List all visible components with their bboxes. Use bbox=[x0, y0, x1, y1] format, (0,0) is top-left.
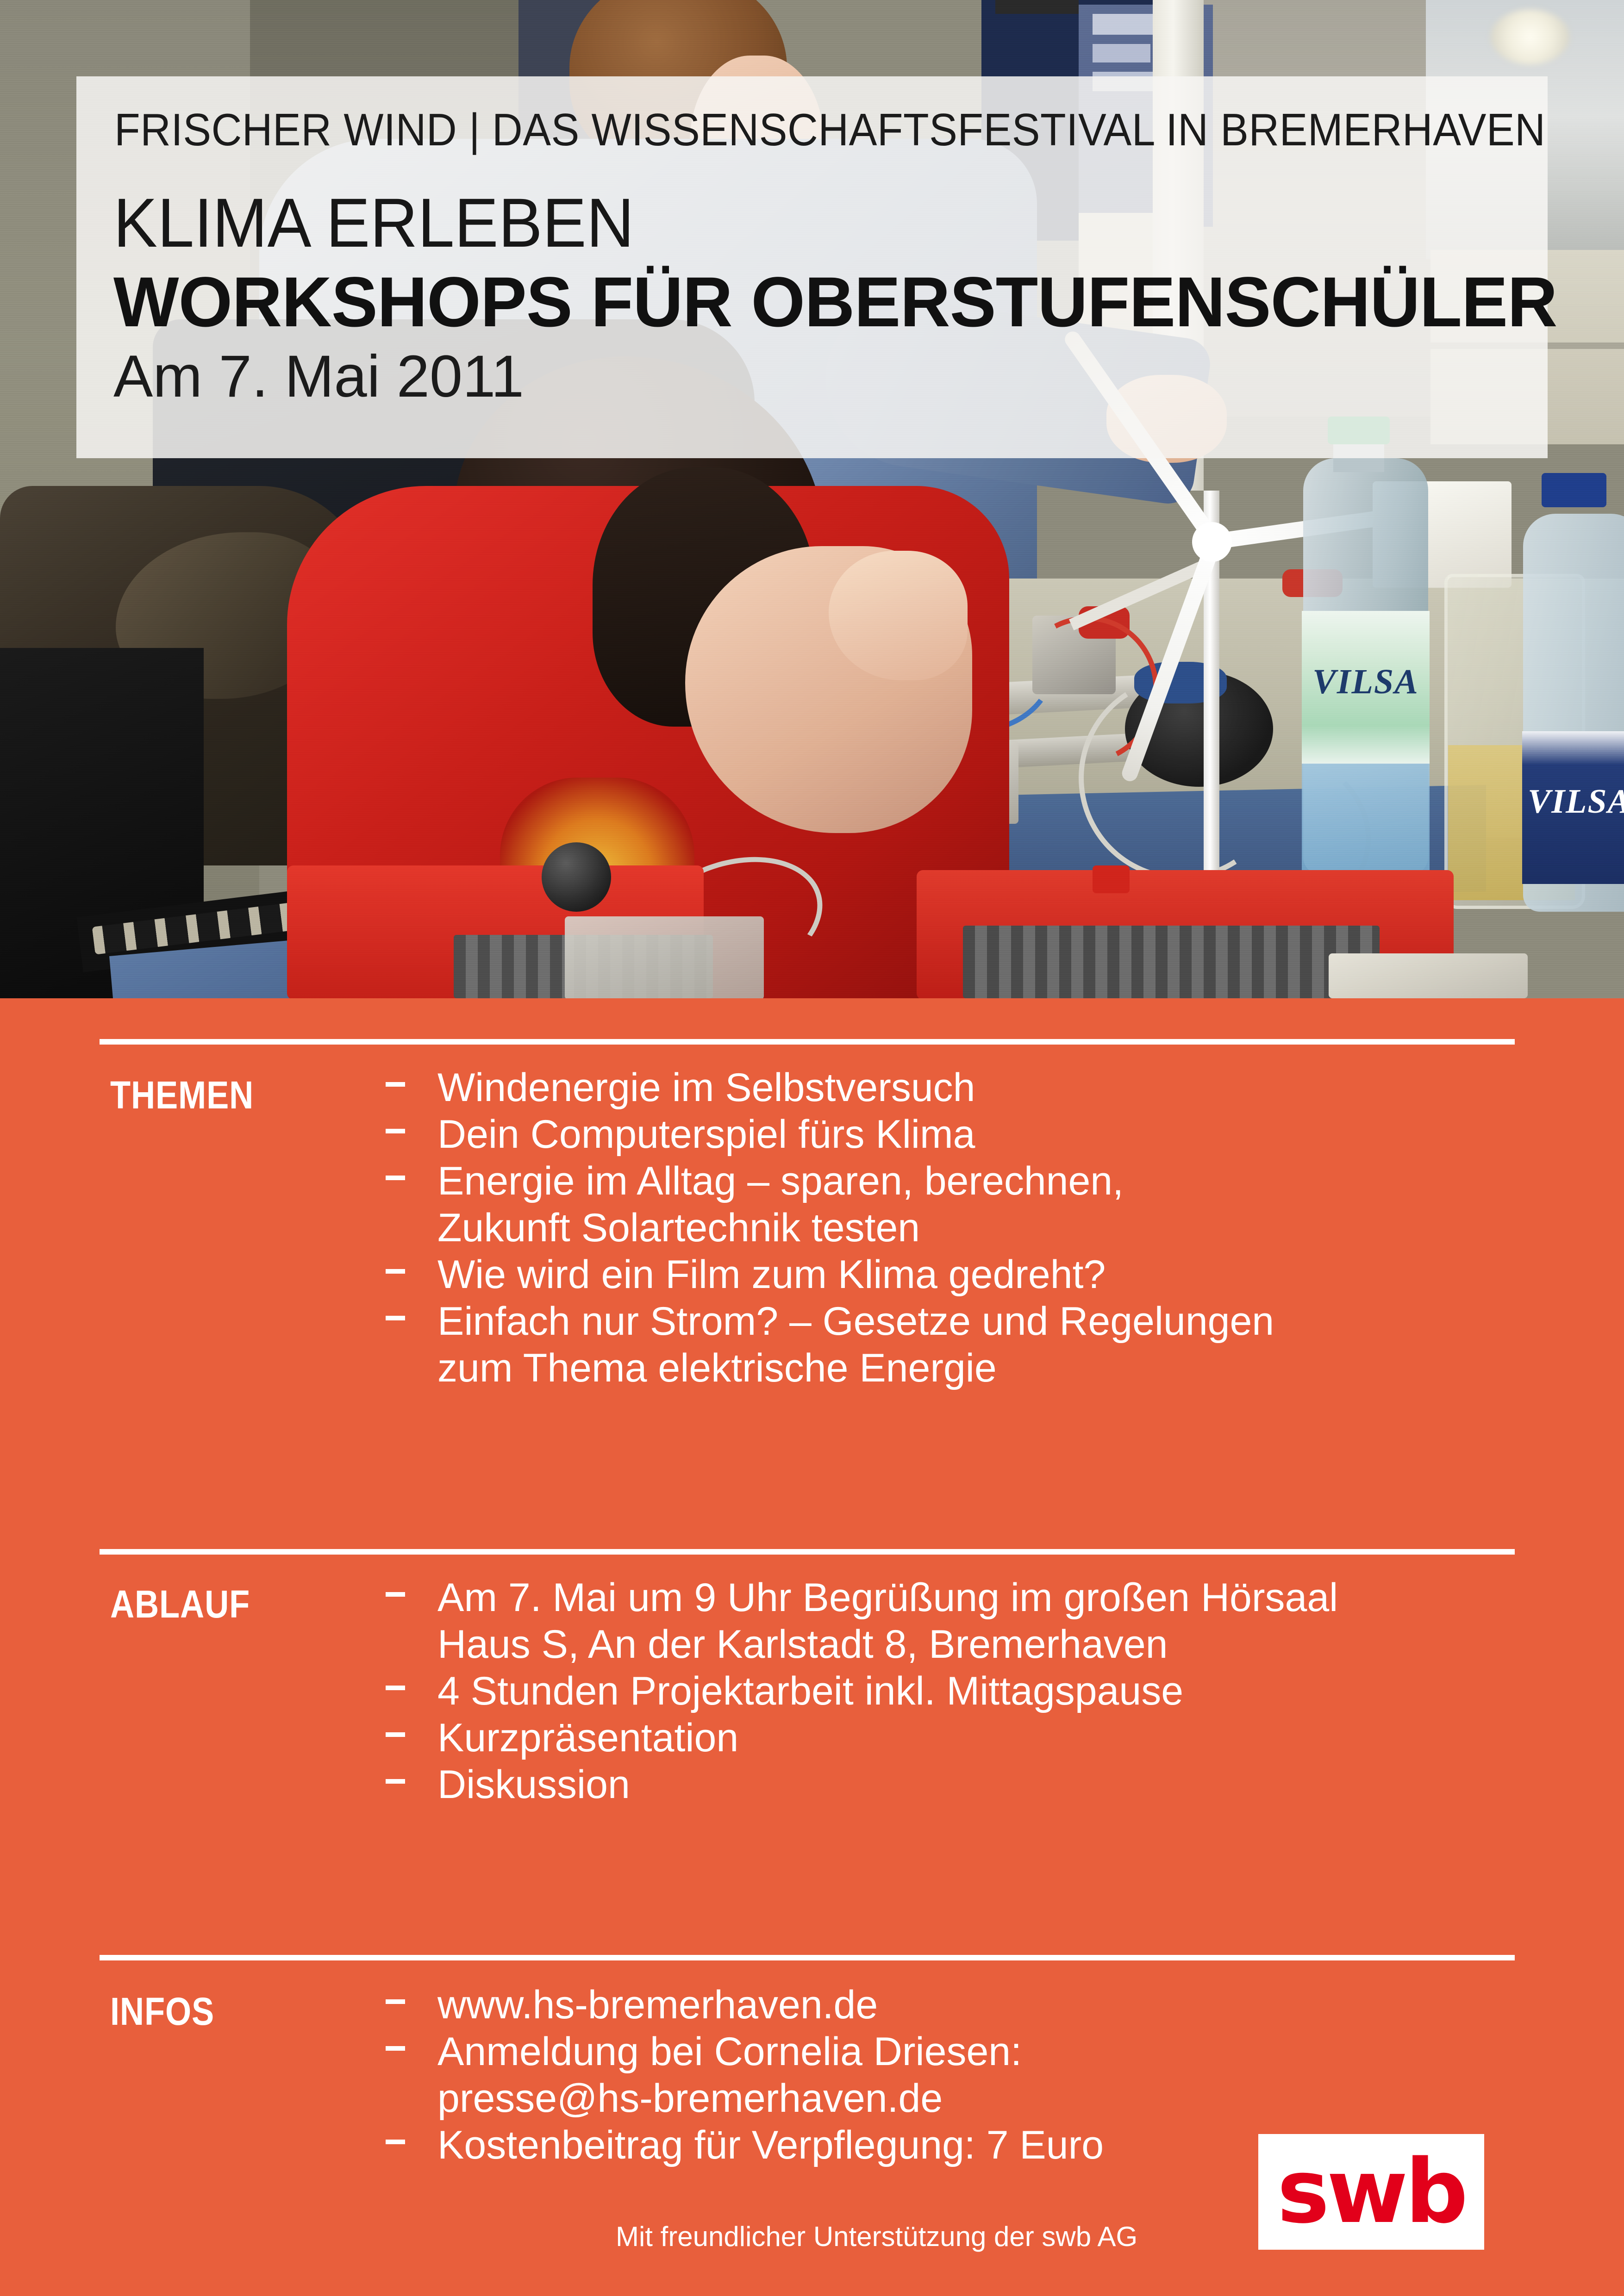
website-link[interactable]: www.hs-bremerhaven.de bbox=[437, 1982, 1543, 2028]
list-item: Anmeldung bei Cornelia Driesen: presse@h… bbox=[386, 2028, 1543, 2122]
divider-infos bbox=[100, 1955, 1515, 1960]
list-item: Einfach nur Strom? – Gesetze und Regelun… bbox=[386, 1298, 1543, 1392]
list-item: Diskussion bbox=[386, 1761, 1543, 1808]
list-item: www.hs-bremerhaven.de bbox=[386, 1982, 1543, 2028]
event-date: Am 7. Mai 2011 bbox=[113, 342, 524, 411]
sponsor-note: Mit freundlicher Unterstützung der swb A… bbox=[616, 2221, 1137, 2252]
bullet-dash-icon bbox=[386, 2046, 405, 2051]
bullet-dash-icon bbox=[386, 1082, 405, 1087]
wind-turbine-hub bbox=[1192, 522, 1232, 562]
toolbox-tray-right bbox=[1329, 953, 1528, 998]
list-item-line: Kurzpräsentation bbox=[437, 1715, 1543, 1761]
bottle-brand-label-2: VILSA bbox=[1528, 782, 1624, 822]
section-label-themen: THEMEN bbox=[110, 1073, 254, 1118]
list-item-line: Einfach nur Strom? – Gesetze und Regelun… bbox=[437, 1298, 1543, 1345]
booth-header-bar bbox=[995, 0, 1079, 14]
page-title-line-1: KLIMA ERLEBEN bbox=[113, 183, 634, 263]
bullet-dash-icon bbox=[386, 1176, 405, 1180]
black-knob bbox=[542, 842, 611, 912]
list-item: Energie im Alltag – sparen, berechnen, Z… bbox=[386, 1158, 1543, 1251]
bullet-dash-icon bbox=[386, 1592, 405, 1597]
list-item-line: Zukunft Solartechnik testen bbox=[437, 1205, 1543, 1251]
list-item: Wie wird ein Film zum Klima gedreht? bbox=[386, 1251, 1543, 1298]
booth-sign-line-2 bbox=[1093, 44, 1150, 62]
section-items-themen: Windenergie im Selbstversuch Dein Comput… bbox=[386, 1064, 1543, 1392]
bullet-dash-icon bbox=[386, 1686, 405, 1690]
festival-tagline: FRISCHER WIND | DAS WISSENSCHAFTSFESTIVA… bbox=[114, 104, 1545, 156]
list-item-line: Dein Computerspiel fürs Klima bbox=[437, 1111, 1543, 1158]
bottle-brand-label-1: VILSA bbox=[1310, 662, 1421, 702]
list-item-line: Am 7. Mai um 9 Uhr Begrüßung im großen H… bbox=[437, 1574, 1543, 1621]
list-item: Dein Computerspiel fürs Klima bbox=[386, 1111, 1543, 1158]
list-item: Windenergie im Selbstversuch bbox=[386, 1064, 1543, 1111]
water-bottle-green-water bbox=[1302, 759, 1430, 870]
list-item-line: Haus S, An der Karlstadt 8, Bremerhaven bbox=[437, 1621, 1543, 1668]
section-label-ablauf: ABLAUF bbox=[110, 1582, 250, 1627]
bullet-dash-icon bbox=[386, 1732, 405, 1737]
list-item-line: Diskussion bbox=[437, 1761, 1543, 1808]
list-item-line: Anmeldung bei Cornelia Driesen: bbox=[437, 2028, 1543, 2075]
bullet-dash-icon bbox=[386, 1129, 405, 1133]
poster: VILSA VILSA FRISCHER WIND | DAS WISSENSC… bbox=[0, 0, 1624, 2296]
email-link[interactable]: presse@hs-bremerhaven.de bbox=[437, 2075, 1543, 2122]
list-item-line: Windenergie im Selbstversuch bbox=[437, 1064, 1543, 1111]
bullet-dash-icon bbox=[386, 2140, 405, 2144]
list-item: 4 Stunden Projektarbeit inkl. Mittagspau… bbox=[386, 1668, 1543, 1715]
red-connector bbox=[1093, 865, 1130, 893]
list-item: Kurzpräsentation bbox=[386, 1715, 1543, 1761]
divider-ablauf bbox=[100, 1549, 1515, 1555]
water-bottle-blue-cap bbox=[1542, 473, 1606, 507]
page-title-line-2: WORKSHOPS FÜR OBERSTUFENSCHÜLER bbox=[113, 261, 1557, 343]
bullet-dash-icon bbox=[386, 1779, 405, 1784]
bullet-dash-icon bbox=[386, 1269, 405, 1274]
swb-logo-text: swb bbox=[1258, 2134, 1484, 2250]
list-item-line: Wie wird ein Film zum Klima gedreht? bbox=[437, 1251, 1543, 1298]
section-items-ablauf: Am 7. Mai um 9 Uhr Begrüßung im großen H… bbox=[386, 1574, 1543, 1808]
list-item-line: 4 Stunden Projektarbeit inkl. Mittagspau… bbox=[437, 1668, 1543, 1715]
section-label-infos: INFOS bbox=[110, 1989, 214, 2034]
list-item-line: zum Thema elektrische Energie bbox=[437, 1345, 1543, 1392]
bullet-dash-icon bbox=[386, 1999, 405, 2004]
toolbox-foam-right bbox=[963, 926, 1380, 998]
bullet-dash-icon bbox=[386, 1316, 405, 1320]
ceiling-lamp bbox=[1491, 9, 1569, 65]
swb-logo: swb bbox=[1258, 2134, 1484, 2250]
list-item: Am 7. Mai um 9 Uhr Begrüßung im großen H… bbox=[386, 1574, 1543, 1668]
list-item-line: Energie im Alltag – sparen, berechnen, bbox=[437, 1158, 1543, 1205]
divider-themen bbox=[100, 1039, 1515, 1045]
toolbox-tray-left bbox=[565, 916, 764, 998]
